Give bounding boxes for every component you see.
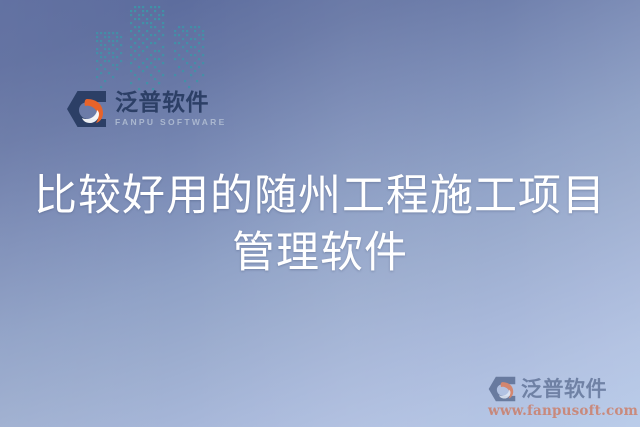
fanpu-hexagon-mark-icon	[66, 90, 110, 128]
digital-city-pixel-mosaic-icon	[96, 2, 226, 94]
logo-name-cn: 泛普软件	[115, 91, 227, 115]
fanpu-logo-text: 泛普软件 FANPU SOFTWARE	[115, 91, 227, 127]
promotional-banner: 泛普软件 FANPU SOFTWARE 比较好用的随州工程施工项目 管理软件 泛…	[0, 0, 640, 427]
fanpu-hexagon-mark-icon	[488, 376, 518, 402]
page-title-line-1: 比较好用的随州工程施工项目	[30, 168, 610, 225]
page-title: 比较好用的随州工程施工项目 管理软件	[0, 168, 640, 282]
fanpu-logo: 泛普软件 FANPU SOFTWARE	[66, 90, 227, 128]
watermark-url: www.fanpusoft.com	[488, 403, 630, 419]
watermark-name-cn: 泛普软件	[521, 379, 607, 400]
site-watermark: 泛普软件 www.fanpusoft.com	[488, 376, 630, 419]
page-title-line-2: 管理软件	[30, 225, 610, 282]
watermark-logo-row: 泛普软件	[488, 376, 630, 402]
logo-name-en: FANPU SOFTWARE	[115, 117, 227, 127]
